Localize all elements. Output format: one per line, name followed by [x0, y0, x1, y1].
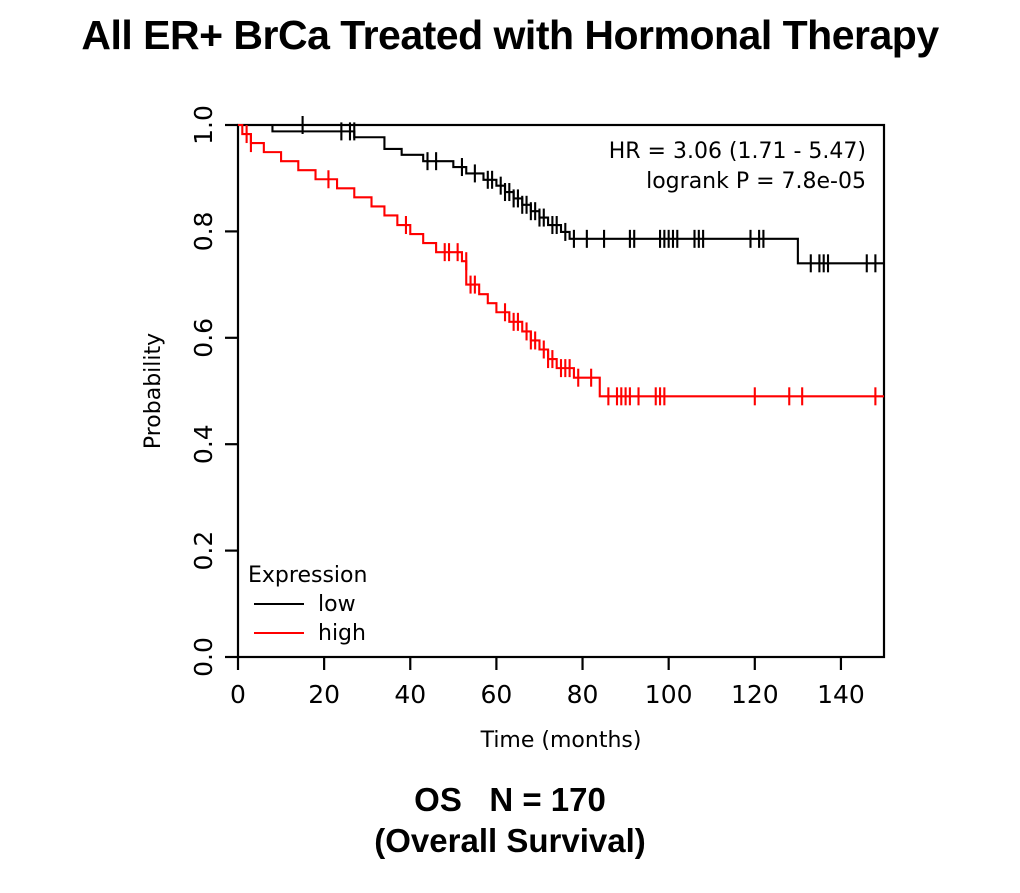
y-tick-label: 0.0	[189, 637, 218, 677]
y-tick-label: 0.4	[189, 424, 218, 464]
x-tick-label: 20	[308, 680, 340, 709]
x-tick-label: 0	[230, 680, 246, 709]
logrank-p-annotation: logrank P = 7.8e-05	[646, 169, 866, 194]
x-tick-label: 140	[817, 680, 865, 709]
legend-title: Expression	[248, 563, 367, 588]
y-tick-label: 1.0	[189, 105, 218, 145]
x-tick-label: 80	[567, 680, 599, 709]
y-tick-label: 0.2	[189, 531, 218, 571]
series-high	[238, 125, 884, 405]
x-tick-label: 40	[394, 680, 426, 709]
x-axis-title: Time (months)	[480, 728, 642, 753]
legend-label-low: low	[318, 592, 356, 617]
y-tick-label: 0.8	[189, 212, 218, 252]
y-tick-label: 0.6	[189, 318, 218, 358]
legend-label-high: high	[318, 621, 366, 646]
survival-plot: 020406080100120140Time (months)0.00.20.4…	[0, 0, 1020, 893]
x-tick-label: 100	[645, 680, 693, 709]
survival-curve-high	[238, 125, 884, 396]
caption-line-2: (Overall Survival)	[0, 820, 1020, 861]
x-tick-label: 120	[731, 680, 779, 709]
y-axis-title: Probability	[141, 333, 166, 449]
plot-caption: OS N = 170 (Overall Survival)	[0, 779, 1020, 861]
x-tick-label: 60	[480, 680, 512, 709]
hazard-ratio-annotation: HR = 3.06 (1.71 - 5.47)	[609, 139, 866, 164]
caption-line-1: OS N = 170	[0, 779, 1020, 820]
